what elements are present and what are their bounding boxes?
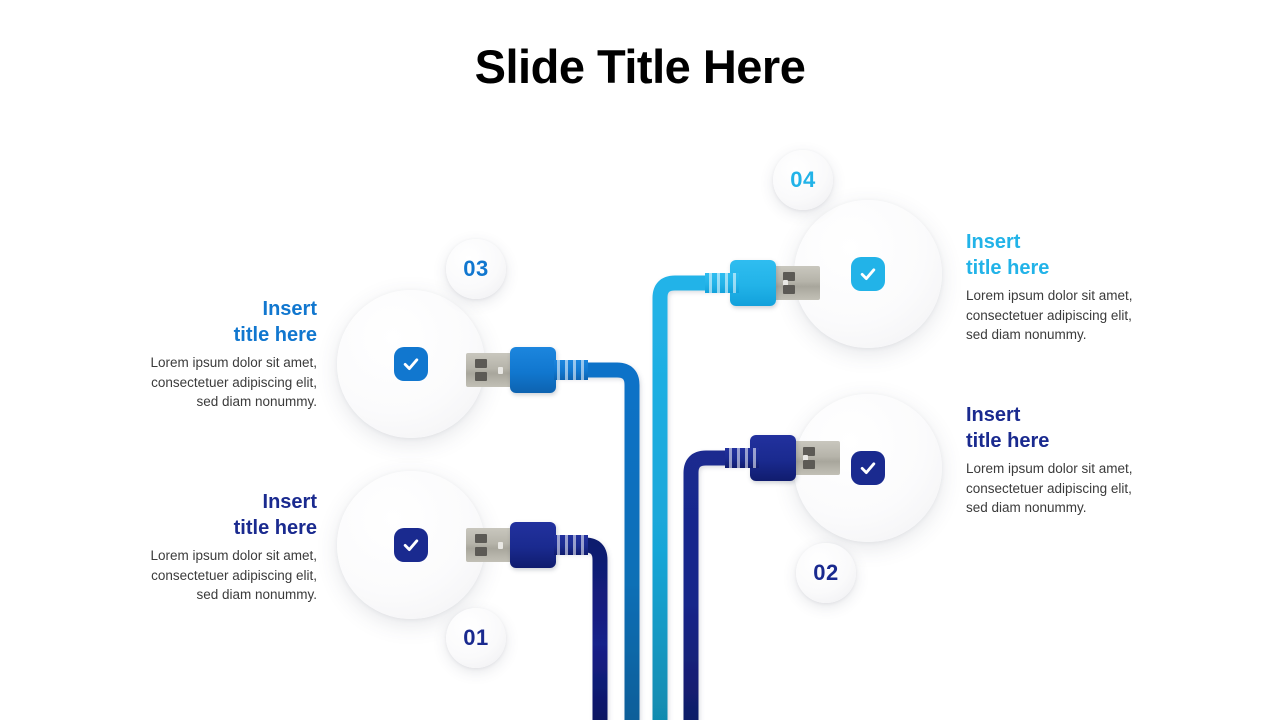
body-03-line3: sed diam nonummy. bbox=[196, 394, 317, 409]
body-04-line1: Lorem ipsum dolor sit amet, bbox=[966, 288, 1133, 303]
usb-cable-ribs-04 bbox=[705, 273, 739, 293]
heading-01: Insert title here bbox=[95, 489, 317, 541]
body-03-line1: Lorem ipsum dolor sit amet, bbox=[150, 355, 317, 370]
body-04-line2: consectetuer adipiscing elit, bbox=[966, 308, 1132, 323]
check-icon-04 bbox=[851, 257, 885, 291]
text-block-03: Insert title here Lorem ipsum dolor sit … bbox=[95, 296, 317, 412]
text-block-02: Insert title here Lorem ipsum dolor sit … bbox=[966, 402, 1188, 518]
usb-body-01 bbox=[510, 522, 556, 568]
badge-01: 01 bbox=[446, 608, 506, 668]
heading-03: Insert title here bbox=[95, 296, 317, 348]
slide-canvas: Slide Title Here bbox=[0, 0, 1280, 720]
body-03: Lorem ipsum dolor sit amet, consectetuer… bbox=[95, 353, 317, 412]
badge-04: 04 bbox=[773, 150, 833, 210]
heading-01-line2: title here bbox=[234, 517, 317, 539]
badge-03: 03 bbox=[446, 239, 506, 299]
text-block-04: Insert title here Lorem ipsum dolor sit … bbox=[966, 229, 1188, 345]
body-01-line2: consectetuer adipiscing elit, bbox=[151, 568, 317, 583]
usb-cable-ribs-01 bbox=[554, 535, 588, 555]
body-04-line3: sed diam nonummy. bbox=[966, 327, 1087, 342]
heading-04-line2: title here bbox=[966, 257, 1049, 279]
usb-connector-03 bbox=[466, 347, 581, 393]
usb-metal-head-01 bbox=[466, 528, 512, 562]
heading-03-line2: title here bbox=[234, 324, 317, 346]
usb-body-03 bbox=[510, 347, 556, 393]
body-03-line2: consectetuer adipiscing elit, bbox=[151, 375, 317, 390]
body-01-line1: Lorem ipsum dolor sit amet, bbox=[150, 548, 317, 563]
body-01-line3: sed diam nonummy. bbox=[196, 587, 317, 602]
body-02-line3: sed diam nonummy. bbox=[966, 500, 1087, 515]
usb-cable-ribs-02 bbox=[725, 448, 759, 468]
check-icon-03 bbox=[394, 347, 428, 381]
badge-02: 02 bbox=[796, 543, 856, 603]
usb-metal-head-04 bbox=[774, 266, 820, 300]
heading-03-line1: Insert bbox=[263, 298, 317, 320]
check-icon-02 bbox=[851, 451, 885, 485]
text-block-01: Insert title here Lorem ipsum dolor sit … bbox=[95, 489, 317, 605]
body-04: Lorem ipsum dolor sit amet, consectetuer… bbox=[966, 286, 1188, 345]
heading-02: Insert title here bbox=[966, 402, 1188, 454]
check-icon-01 bbox=[394, 528, 428, 562]
usb-connector-02 bbox=[725, 435, 840, 481]
heading-02-line1: Insert bbox=[966, 404, 1020, 426]
heading-02-line2: title here bbox=[966, 430, 1049, 452]
heading-01-line1: Insert bbox=[263, 491, 317, 513]
usb-metal-head-02 bbox=[794, 441, 840, 475]
usb-connector-04 bbox=[705, 260, 820, 306]
usb-cable-ribs-03 bbox=[554, 360, 588, 380]
body-02: Lorem ipsum dolor sit amet, consectetuer… bbox=[966, 459, 1188, 518]
body-02-line2: consectetuer adipiscing elit, bbox=[966, 481, 1132, 496]
usb-connector-01 bbox=[466, 522, 581, 568]
body-01: Lorem ipsum dolor sit amet, consectetuer… bbox=[95, 546, 317, 605]
heading-04-line1: Insert bbox=[966, 231, 1020, 253]
usb-metal-head-03 bbox=[466, 353, 512, 387]
body-02-line1: Lorem ipsum dolor sit amet, bbox=[966, 461, 1133, 476]
heading-04: Insert title here bbox=[966, 229, 1188, 281]
